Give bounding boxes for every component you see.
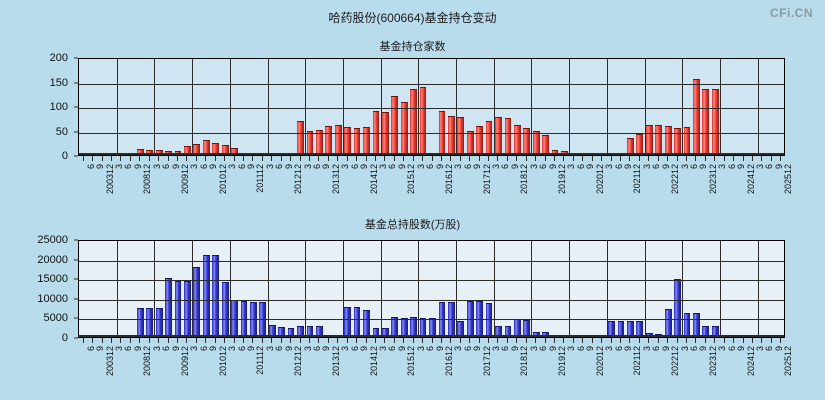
bar <box>655 125 662 155</box>
x-axis-tick <box>111 156 112 161</box>
chart-1-x-axis: 6920031236920081236920091236920101236920… <box>78 162 785 208</box>
gridline-vertical <box>192 59 193 155</box>
chart-page: 哈药股份(600664)基金持仓变动 CFi.CN 基金持仓家数 0501001… <box>0 0 825 400</box>
bar <box>307 131 314 156</box>
gridline-vertical <box>607 241 608 337</box>
gridline-vertical <box>456 59 457 155</box>
x-axis-label: 6 <box>162 164 171 169</box>
x-axis-tick <box>639 338 640 343</box>
x-axis-tick <box>677 156 678 161</box>
gridline-vertical <box>154 241 155 337</box>
x-axis-tick <box>422 338 423 343</box>
x-axis-tick <box>205 156 206 161</box>
bar <box>495 117 502 155</box>
x-axis-tick <box>573 338 574 343</box>
x-axis-tick <box>281 156 282 161</box>
x-axis-tick <box>111 338 112 343</box>
x-axis-tick <box>469 338 470 343</box>
x-axis-tick <box>497 156 498 161</box>
x-axis-tick <box>252 156 253 161</box>
gridline-vertical <box>494 59 495 155</box>
bar-fill <box>693 313 700 337</box>
bar <box>363 127 370 155</box>
bar-fill <box>165 278 172 337</box>
x-axis-tick <box>761 338 762 343</box>
x-axis-tick <box>177 156 178 161</box>
x-axis-tick <box>375 338 376 343</box>
bar <box>325 126 332 155</box>
x-axis-tick <box>677 338 678 343</box>
bar <box>344 307 351 337</box>
bar <box>674 279 681 337</box>
gridline-horizontal <box>79 261 784 262</box>
x-axis-tick <box>611 156 612 161</box>
x-axis-tick <box>592 338 593 343</box>
x-axis-tick <box>573 156 574 161</box>
x-axis-tick <box>318 156 319 161</box>
bar-fill <box>495 117 502 155</box>
bar-fill <box>693 79 700 155</box>
gridline-vertical <box>758 241 759 337</box>
x-axis-tick <box>658 338 659 343</box>
chart-2-title: 基金总持股数(万股) <box>0 216 825 232</box>
x-axis-tick <box>488 156 489 161</box>
bar <box>297 121 304 155</box>
x-axis-tick <box>394 156 395 161</box>
bar-fill <box>448 116 455 155</box>
x-axis-tick <box>356 338 357 343</box>
x-axis-label: 6 <box>275 164 284 169</box>
bar-fill <box>684 127 691 155</box>
bar <box>137 308 144 337</box>
bar <box>410 89 417 155</box>
bar <box>212 255 219 337</box>
x-axis-tick <box>356 156 357 161</box>
x-axis-tick <box>92 338 93 343</box>
x-axis-tick <box>139 156 140 161</box>
x-axis-tick <box>611 338 612 343</box>
bar-fill <box>325 126 332 155</box>
x-axis-tick <box>441 156 442 161</box>
chart-1-plot-area <box>78 58 785 156</box>
gridline-vertical <box>494 241 495 337</box>
x-axis-tick <box>563 156 564 161</box>
x-axis-tick <box>526 156 527 161</box>
bar-fill <box>655 125 662 155</box>
gridline-vertical <box>192 241 193 337</box>
x-axis-tick <box>403 156 404 161</box>
x-axis-tick <box>262 156 263 161</box>
bar-fill <box>684 313 691 337</box>
bar <box>156 308 163 337</box>
bar <box>344 127 351 155</box>
x-axis-tick <box>215 156 216 161</box>
x-axis-tick <box>130 338 131 343</box>
x-axis-tick <box>497 338 498 343</box>
x-axis-tick <box>695 338 696 343</box>
gridline-vertical <box>305 241 306 337</box>
x-axis-label: 201212 <box>294 346 303 376</box>
x-axis-label: 201512 <box>407 346 416 376</box>
x-axis-tick <box>771 338 772 343</box>
bar-fill <box>636 134 643 155</box>
x-axis-label: 201812 <box>520 164 529 194</box>
x-axis-label: 3 <box>228 346 237 351</box>
bar-fill <box>410 89 417 155</box>
y-axis-label: 15000 <box>37 273 68 285</box>
x-axis-tick <box>432 338 433 343</box>
bar <box>184 281 191 337</box>
bar <box>193 267 200 337</box>
y-axis-label: 200 <box>50 52 68 64</box>
x-axis-label: 9 <box>737 164 746 169</box>
x-axis-tick <box>186 156 187 161</box>
gridline-vertical <box>381 241 382 337</box>
x-axis-tick <box>290 338 291 343</box>
x-axis-label: 9 <box>473 164 482 169</box>
x-axis-tick <box>83 338 84 343</box>
bar <box>401 102 408 155</box>
chart-2-plot-area <box>78 240 785 338</box>
x-axis-tick <box>337 338 338 343</box>
x-axis-tick <box>469 156 470 161</box>
gridline-vertical <box>720 59 721 155</box>
gridline-horizontal <box>79 108 784 109</box>
bar <box>702 89 709 155</box>
x-axis-tick <box>83 156 84 161</box>
x-axis-tick <box>620 338 621 343</box>
bar <box>665 126 672 155</box>
bar <box>175 281 182 337</box>
x-axis-label: 6 <box>388 346 397 351</box>
x-axis-tick <box>479 156 480 161</box>
x-axis-label: 9 <box>209 346 218 351</box>
bar-fill <box>467 131 474 156</box>
x-axis-tick <box>290 156 291 161</box>
bar <box>203 255 210 337</box>
gridline-vertical <box>117 59 118 155</box>
chart-1-bars <box>79 59 784 155</box>
bar-fill <box>175 281 182 337</box>
x-axis-tick <box>205 338 206 343</box>
x-axis-tick <box>158 156 159 161</box>
bar-fill <box>222 282 229 337</box>
chart-2-panel: 0500010000150002000025000 69200312369200… <box>0 240 825 390</box>
y-axis-label: 150 <box>50 77 68 89</box>
x-axis-tick <box>629 156 630 161</box>
x-axis-tick <box>215 338 216 343</box>
x-axis-tick <box>102 156 103 161</box>
bar-fill <box>476 126 483 155</box>
bar-fill <box>401 102 408 155</box>
x-axis-label: 3 <box>718 346 727 351</box>
x-axis-tick <box>168 338 169 343</box>
x-axis-tick <box>761 156 762 161</box>
bar-fill <box>712 89 719 155</box>
x-axis-label: 202512 <box>784 346 793 376</box>
bar-fill <box>307 131 314 156</box>
gridline-vertical <box>645 241 646 337</box>
x-axis-tick <box>488 338 489 343</box>
x-axis-tick <box>733 156 734 161</box>
bar-fill <box>420 87 427 155</box>
gridline-vertical <box>268 241 269 337</box>
bar <box>684 313 691 337</box>
x-axis-tick <box>450 156 451 161</box>
bar-fill <box>193 267 200 337</box>
bar <box>146 308 153 337</box>
x-axis-label: 6 <box>539 164 548 169</box>
x-axis-tick <box>507 338 508 343</box>
axis-baseline <box>79 153 784 155</box>
chart-2-bars <box>79 241 784 337</box>
x-axis-tick <box>149 338 150 343</box>
x-axis-tick <box>375 156 376 161</box>
x-axis-tick <box>196 338 197 343</box>
x-axis-tick <box>243 338 244 343</box>
bar-fill <box>505 118 512 155</box>
bar-fill <box>184 281 191 337</box>
gridline-vertical <box>720 241 721 337</box>
x-axis-tick <box>413 338 414 343</box>
bar-fill <box>674 279 681 337</box>
x-axis-tick <box>262 338 263 343</box>
x-axis-tick <box>366 156 367 161</box>
gridline-vertical <box>569 59 570 155</box>
x-axis-tick <box>271 338 272 343</box>
x-axis-tick <box>432 156 433 161</box>
x-axis-tick <box>300 338 301 343</box>
x-axis-tick <box>507 156 508 161</box>
x-axis-label: 6 <box>426 346 435 351</box>
x-axis-tick <box>309 156 310 161</box>
x-axis-tick <box>441 338 442 343</box>
bar-fill <box>344 127 351 155</box>
bar-fill <box>156 308 163 337</box>
bar <box>486 121 493 155</box>
bar-fill <box>137 308 144 337</box>
x-axis-label: 201512 <box>407 164 416 194</box>
x-axis-tick <box>592 156 593 161</box>
x-axis-tick <box>724 338 725 343</box>
bar <box>693 313 700 337</box>
x-axis-label: 202212 <box>671 346 680 376</box>
chart-2-y-axis: 0500010000150002000025000 <box>0 240 74 338</box>
x-axis-tick <box>413 156 414 161</box>
x-axis-tick <box>149 156 150 161</box>
x-axis-label: 9 <box>360 346 369 351</box>
x-axis-tick <box>479 338 480 343</box>
bar <box>467 131 474 156</box>
gridline-horizontal <box>79 300 784 301</box>
x-axis-tick <box>545 156 546 161</box>
x-axis-label: 201212 <box>294 164 303 194</box>
x-axis-tick <box>139 338 140 343</box>
x-axis-tick <box>601 338 602 343</box>
x-axis-tick <box>186 338 187 343</box>
bar <box>646 125 653 155</box>
bar <box>457 117 464 155</box>
site-watermark: CFi.CN <box>770 6 813 20</box>
bar-fill <box>533 131 540 155</box>
x-axis-tick <box>384 156 385 161</box>
x-axis-label: 202212 <box>671 164 680 194</box>
x-axis-tick <box>705 156 706 161</box>
x-axis-tick <box>639 156 640 161</box>
bar-fill <box>363 127 370 155</box>
x-axis-tick <box>714 156 715 161</box>
bar <box>354 307 361 337</box>
gridline-vertical <box>154 59 155 155</box>
gridline-vertical <box>418 241 419 337</box>
gridline-horizontal <box>79 84 784 85</box>
x-axis-label: 3 <box>454 346 463 351</box>
x-axis-label: 6 <box>539 346 548 351</box>
bar <box>684 127 691 155</box>
x-axis-tick <box>347 338 348 343</box>
x-axis-tick <box>582 156 583 161</box>
x-axis-tick <box>629 338 630 343</box>
x-axis-tick <box>554 156 555 161</box>
x-axis-tick <box>177 338 178 343</box>
x-axis-label: 3 <box>228 164 237 169</box>
gridline-vertical <box>682 59 683 155</box>
x-axis-tick <box>780 156 781 161</box>
x-axis-tick <box>780 338 781 343</box>
x-axis-label: 6 <box>388 164 397 169</box>
y-axis-label: 20000 <box>37 254 68 266</box>
bar <box>712 89 719 155</box>
x-axis-label: 6 <box>426 164 435 169</box>
bar-fill <box>146 308 153 337</box>
x-axis-tick <box>705 338 706 343</box>
page-title: 哈药股份(600664)基金持仓变动 <box>0 9 825 26</box>
x-axis-tick <box>516 156 517 161</box>
gridline-vertical <box>607 59 608 155</box>
x-axis-tick <box>620 156 621 161</box>
bar-fill <box>646 125 653 155</box>
bar-fill <box>363 310 370 337</box>
x-axis-tick <box>752 338 753 343</box>
gridline-vertical <box>381 59 382 155</box>
x-axis-tick <box>724 156 725 161</box>
bar-fill <box>486 121 493 155</box>
gridline-vertical <box>343 241 344 337</box>
bar <box>165 278 172 337</box>
bar-fill <box>391 96 398 155</box>
x-axis-tick <box>300 156 301 161</box>
x-axis-label: 9 <box>586 346 595 351</box>
bar <box>222 282 229 337</box>
bar <box>363 310 370 337</box>
gridline-horizontal <box>79 319 784 320</box>
x-axis-tick <box>516 338 517 343</box>
bar <box>391 96 398 155</box>
x-axis-tick <box>667 338 668 343</box>
x-axis-tick <box>752 156 753 161</box>
x-axis-tick <box>224 156 225 161</box>
x-axis-label: 6 <box>652 164 661 169</box>
x-axis-label: 9 <box>586 164 595 169</box>
x-axis-label: 3 <box>454 164 463 169</box>
x-axis-tick <box>328 156 329 161</box>
x-axis-tick <box>281 338 282 343</box>
x-axis-label: 6 <box>652 346 661 351</box>
gridline-horizontal <box>79 280 784 281</box>
x-axis-tick <box>460 156 461 161</box>
x-axis-tick <box>714 338 715 343</box>
bar <box>514 125 521 155</box>
x-axis-tick <box>234 338 235 343</box>
x-axis-tick <box>234 156 235 161</box>
bar <box>533 131 540 155</box>
y-axis-label: 0 <box>62 332 68 344</box>
x-axis-tick <box>168 156 169 161</box>
x-axis-tick <box>554 338 555 343</box>
x-axis-tick <box>224 338 225 343</box>
gridline-vertical <box>305 59 306 155</box>
gridline-vertical <box>569 241 570 337</box>
x-axis-tick <box>743 156 744 161</box>
bar <box>335 125 342 155</box>
x-axis-tick <box>309 338 310 343</box>
x-axis-label: 3 <box>605 164 614 169</box>
x-axis-label: 9 <box>737 346 746 351</box>
bar <box>420 87 427 155</box>
x-axis-label: 200812 <box>143 164 152 194</box>
bar-fill <box>297 121 304 155</box>
x-axis-label: 3 <box>341 346 350 351</box>
x-axis-tick <box>158 338 159 343</box>
x-axis-tick <box>196 156 197 161</box>
x-axis-tick <box>686 156 687 161</box>
gridline-vertical <box>456 241 457 337</box>
x-axis-tick <box>328 338 329 343</box>
gridline-vertical <box>645 59 646 155</box>
chart-1-y-axis: 050100150200 <box>0 58 74 156</box>
x-axis-tick <box>422 156 423 161</box>
gridline-vertical <box>682 241 683 337</box>
bar-fill <box>457 117 464 155</box>
y-axis-label: 100 <box>50 101 68 113</box>
bar <box>693 79 700 155</box>
x-axis-tick <box>243 156 244 161</box>
x-axis-tick <box>318 338 319 343</box>
x-axis-tick <box>337 156 338 161</box>
x-axis-label: 6 <box>162 346 171 351</box>
x-axis-tick <box>535 338 536 343</box>
x-axis-tick <box>648 338 649 343</box>
y-axis-label: 25000 <box>37 234 68 246</box>
x-axis-tick <box>252 338 253 343</box>
x-axis-label: 3 <box>605 346 614 351</box>
x-axis-tick <box>658 156 659 161</box>
bar-fill <box>354 307 361 337</box>
x-axis-tick <box>535 156 536 161</box>
x-axis-label: 201812 <box>520 346 529 376</box>
gridline-vertical <box>531 241 532 337</box>
x-axis-label: 9 <box>360 164 369 169</box>
x-axis-label: 9 <box>96 346 105 351</box>
x-axis-tick <box>92 156 93 161</box>
gridline-vertical <box>531 59 532 155</box>
x-axis-tick <box>120 156 121 161</box>
bar-fill <box>344 307 351 337</box>
bar <box>636 134 643 155</box>
x-axis-tick <box>733 338 734 343</box>
chart-1-title: 基金持仓家数 <box>0 38 825 54</box>
x-axis-tick <box>394 338 395 343</box>
